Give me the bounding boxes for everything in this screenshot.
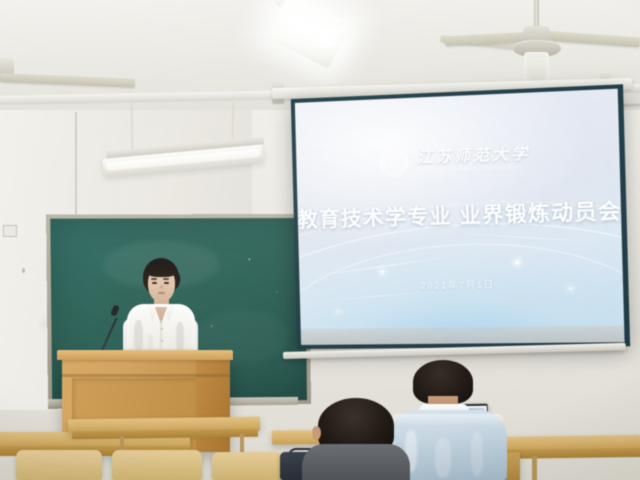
ceiling-fan-rod (534, 0, 539, 28)
slide-decor-dot (516, 261, 520, 265)
presenter-eye (164, 282, 169, 284)
wall-socket-icon (3, 225, 17, 237)
podium-edge (62, 374, 230, 377)
slide-surface: 江苏师范大学 JIANGSU NORMAL UNIVERSITY 教育技术学专业… (295, 89, 625, 345)
student-chair (16, 450, 102, 480)
audience-torso (302, 444, 410, 480)
audience-ear (312, 426, 321, 440)
wall-mark (22, 268, 25, 273)
desk-leg (532, 456, 537, 480)
slide-bottom-band (301, 325, 625, 345)
podium-top-surface (57, 350, 233, 360)
classroom-photo: 江苏师范大学 JIANGSU NORMAL UNIVERSITY 教育技术学专业… (0, 0, 640, 480)
fan-light-globe-icon (524, 52, 549, 84)
presenter-bangs (146, 264, 177, 277)
university-logo: 江苏师范大学 JIANGSU NORMAL UNIVERSITY (380, 144, 531, 177)
slide-decor-dot (569, 287, 572, 290)
presenter-nose (160, 285, 163, 289)
slide-date: 2021年7月1日 (420, 277, 495, 292)
university-seal-icon (380, 148, 408, 176)
presenter-eye (152, 282, 157, 284)
audience-member-foreground (300, 398, 410, 480)
presenter-mouth (158, 292, 165, 294)
projection-screen: 江苏师范大学 JIANGSU NORMAL UNIVERSITY 教育技术学专业… (291, 84, 630, 349)
student-chair (212, 452, 282, 480)
student-chair (112, 450, 202, 480)
